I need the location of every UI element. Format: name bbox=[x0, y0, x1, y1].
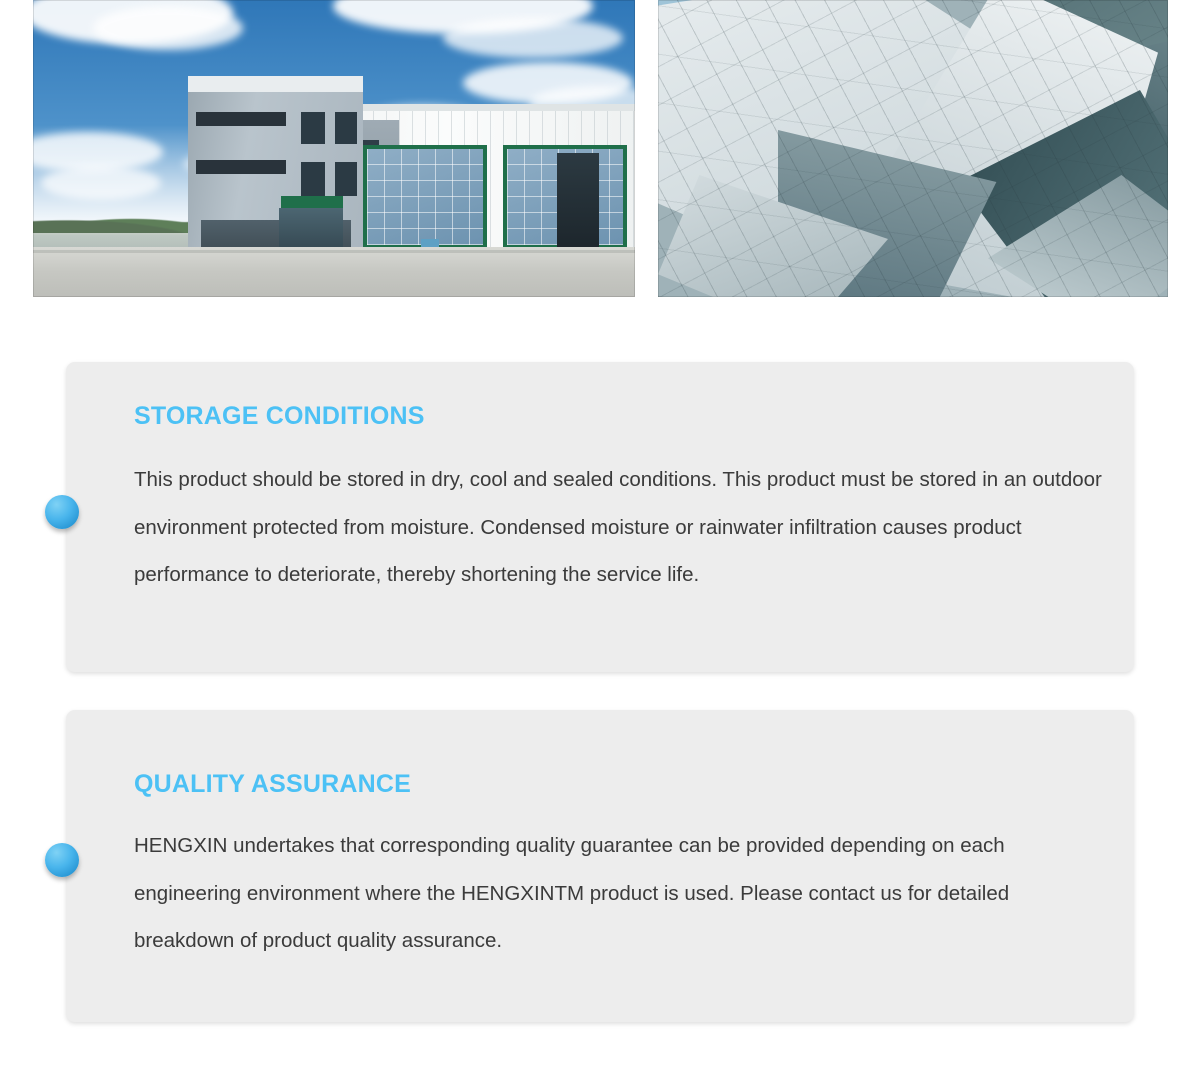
card-title: QUALITY ASSURANCE bbox=[134, 770, 411, 799]
card-body-text: This product should be stored in dry, co… bbox=[134, 456, 1109, 599]
photo-border bbox=[33, 0, 635, 297]
card-body-text: HENGXIN undertakes that corresponding qu… bbox=[134, 822, 1109, 965]
card-title: STORAGE CONDITIONS bbox=[134, 402, 425, 431]
card-storage-conditions: STORAGE CONDITIONS This product should b… bbox=[66, 362, 1134, 672]
image-gallery bbox=[0, 0, 1200, 298]
bullet-dot-icon bbox=[45, 843, 79, 877]
photo-border bbox=[658, 0, 1168, 297]
factory-building-photo[interactable] bbox=[33, 0, 635, 297]
abstract-architecture-photo[interactable] bbox=[658, 0, 1168, 297]
card-quality-assurance: QUALITY ASSURANCE HENGXIN undertakes tha… bbox=[66, 710, 1134, 1022]
bullet-dot-icon bbox=[45, 495, 79, 529]
